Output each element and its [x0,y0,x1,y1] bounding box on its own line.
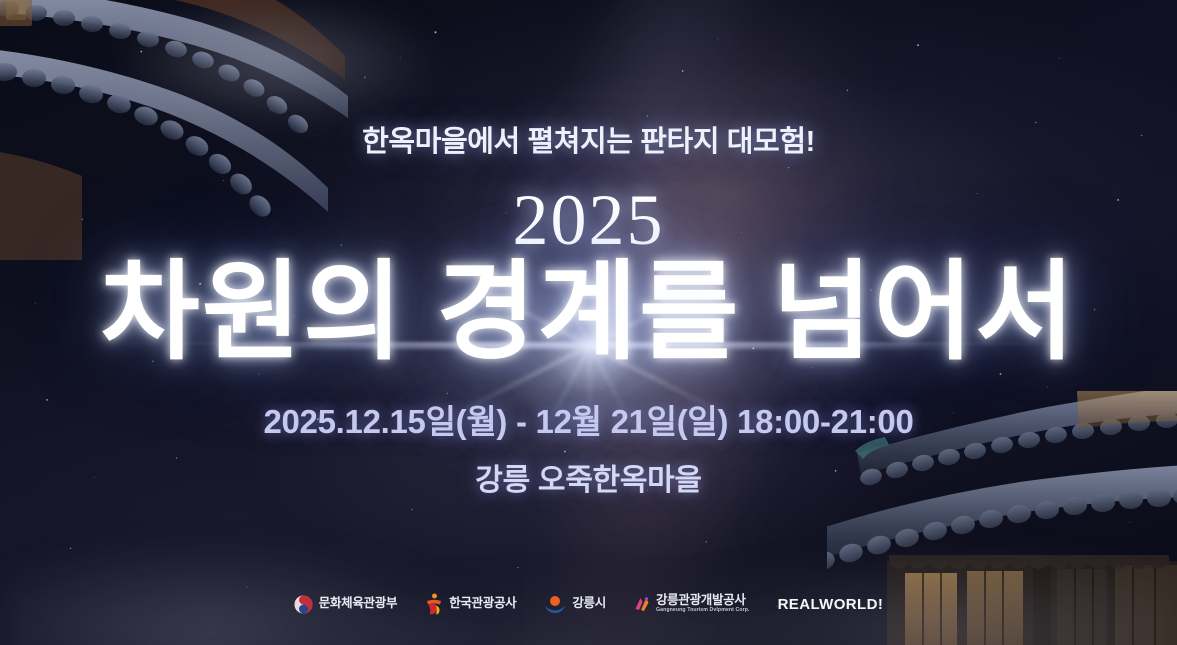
poster-year: 2025 [513,186,665,254]
logo-realworld[interactable]: REALWORLD! [778,596,884,613]
gangneung-sun-wave-icon [544,594,566,614]
event-poster: 한옥마을에서 펼쳐지는 판타지 대모험! 2025 차원의 경계를 넘어서 20… [0,0,1177,645]
logo-mcst-label: 문화체육관광부 [319,597,397,610]
logo-gangneung-city-label: 강릉시 [572,597,606,610]
logo-gtdc[interactable]: 강릉관광개발공사 Gangneung Tourism Dvlpment Corp… [634,594,750,614]
taegeuk-icon [294,595,313,614]
kto-figure-icon [425,593,443,615]
poster-venue: 강릉 오죽한옥마을 [475,455,701,499]
logo-gtdc-subtitle: Gangneung Tourism Dvlpment Corp. [656,608,750,613]
logo-gtdc-name: 강릉관광개발공사 [656,593,746,607]
logo-kto[interactable]: 한국관광공사 [425,593,516,615]
logo-kto-label: 한국관광공사 [449,597,516,610]
poster-tagline: 한옥마을에서 펼쳐지는 판타지 대모험! [362,118,815,160]
sponsor-logo-row: 문화체육관광부 한국관광공사 강릉시 [0,593,1177,615]
logo-realworld-wordmark: REALWORLD! [778,596,884,613]
logo-mcst[interactable]: 문화체육관광부 [294,595,397,614]
hanok-roof-top-left-icon [0,0,350,260]
logo-gtdc-label: 강릉관광개발공사 Gangneung Tourism Dvlpment Corp… [656,594,750,614]
poster-date-line: 2025.12.15일(월) - 12월 21일(일) 18:00-21:00 [263,395,913,443]
mist-bottom-cloud [0,485,1177,645]
poster-main-title: 차원의 경계를 넘어서 [100,252,1076,373]
mist-top-cloud [59,0,600,130]
gtdc-icon [634,596,650,612]
logo-gangneung-city[interactable]: 강릉시 [544,594,606,614]
poster-text-content: 한옥마을에서 펼쳐지는 판타지 대모험! 2025 차원의 경계를 넘어서 20… [0,0,1177,645]
